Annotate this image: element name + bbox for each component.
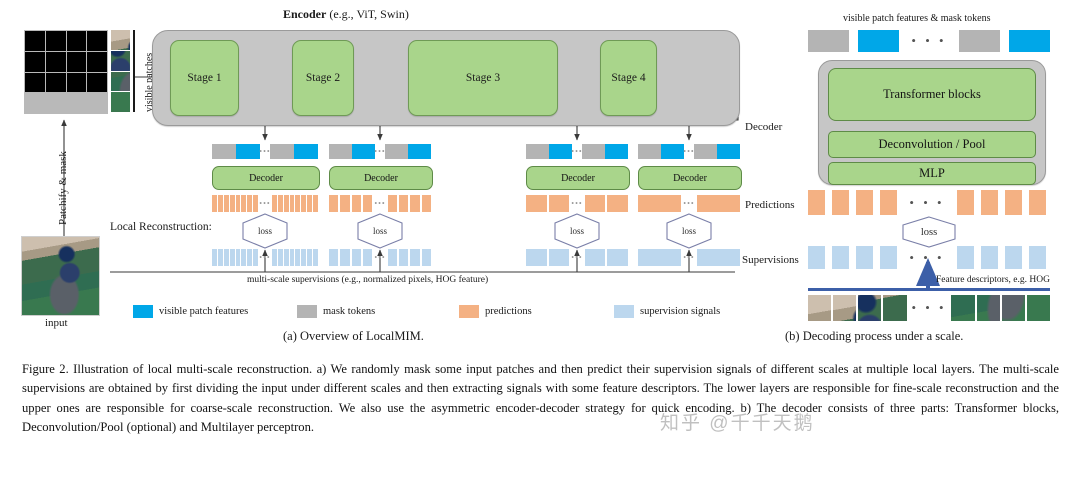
visible-patches-column [111,30,130,112]
encoder-title: Encoder (e.g., ViT, Swin) [283,8,409,20]
source-patch [951,295,974,321]
supervision-bar [697,249,740,266]
mask-cell [87,31,107,51]
stage-3-label: Stage 3 [466,72,500,84]
prediction-bar [284,195,289,212]
stage-4-label: Stage 4 [611,72,645,84]
supervision-strip-2: ••• [329,249,431,266]
prediction-bar [340,195,349,212]
visible-patch-feature [1009,30,1050,52]
ellipsis: ••• [259,195,271,212]
ellipsis: ••• [259,249,271,266]
mask-token [329,144,352,159]
mask-token [526,144,549,159]
visible-patch-feature [408,144,431,159]
legend-label-mask: mask tokens [323,306,375,317]
source-patch [858,295,881,321]
panel-b-supervision-strip: • • • [808,246,1050,269]
legend-supervision-signals: supervision signals [614,305,720,318]
visible-patch [111,92,130,112]
supervision-bar [224,249,229,266]
mask-token [582,144,605,159]
supervision-bar [388,249,397,266]
prediction-bar [212,195,217,212]
panel-b-loss-label: loss [921,227,937,238]
loss-1-label: loss [258,226,272,236]
multiscale-supervisions-note: multi-scale supervisions (e.g., normaliz… [247,276,488,286]
ellipsis: ••• [683,249,695,266]
mask-cell [67,73,87,93]
supervision-bar [340,249,349,266]
visible-patch-feature [605,144,628,159]
supervision-bar [307,249,312,266]
prediction-bar [247,195,252,212]
prediction-bar [856,190,873,215]
mask-cell [67,52,87,72]
legend-predictions: predictions [459,305,532,318]
decoder-1-label: Decoder [249,173,283,184]
supervision-bar [352,249,361,266]
prediction-bar [1029,190,1046,215]
prediction-strip-2: ••• [329,195,431,212]
supervision-strip-4: ••• [638,249,740,266]
patchify-mask-label: Patchify & mask [58,151,69,225]
prediction-bar [1005,190,1022,215]
prediction-bar [832,190,849,215]
encoder-title-bold: Encoder [283,7,326,21]
prediction-bar [638,195,681,212]
token-strip-2: ••• [329,144,431,159]
local-reconstruction-label: Local Reconstruction: [110,222,212,234]
loss-node-2: loss [355,213,405,249]
encoder-title-rest: (e.g., ViT, Swin) [326,7,409,21]
panel-b-supervisions-label: Supervisions [742,255,799,266]
mask-cell [25,73,45,93]
source-patch [1002,295,1025,321]
prediction-bar [808,190,825,215]
ellipsis: ••• [571,249,582,266]
prediction-bar [422,195,431,212]
supervision-bar [301,249,306,266]
prediction-bar [410,195,419,212]
supervision-strip-3: ••• [526,249,628,266]
supervision-bar [832,246,849,269]
supervision-bar [549,249,570,266]
supervision-bar [585,249,606,266]
mask-token [959,30,1000,52]
loss-node-3: loss [552,213,602,249]
prediction-bar [253,195,258,212]
mask-cell [46,73,66,93]
hog-label: Feature descriptors, e.g. HOG [936,276,1050,286]
supervision-bar [410,249,419,266]
prediction-bar [363,195,372,212]
stage-2[interactable]: Stage 2 [292,40,354,116]
mask-cell [46,52,66,72]
supervision-bar [290,249,295,266]
loss-3-label: loss [570,226,584,236]
figure-caption: Figure 2. Illustration of local multi-sc… [22,360,1059,438]
supervision-bar [957,246,974,269]
decoder-1[interactable]: Decoder [212,166,320,190]
mask-token [385,144,408,159]
legend-label-predictions: predictions [485,306,532,317]
ellipsis: ••• [375,144,385,159]
panel-b-predictions-label: Predictions [745,200,795,211]
ellipsis: ••• [571,195,582,212]
supervision-bar [880,246,897,269]
subcaption-b: (b) Decoding process under a scale. [785,330,963,343]
transformer-blocks-box[interactable]: Transformer blocks [828,68,1036,121]
prediction-bar [241,195,246,212]
legend-swatch-mask [297,305,317,318]
figure-caption-text: Illustration of local multi-scale recons… [22,362,1059,434]
panel-b-photo-strip: • • • [808,295,1050,321]
token-strip-1: ••• [212,144,318,159]
supervision-bar [1029,246,1046,269]
ellipsis: • • • [909,295,950,321]
mask-cell [46,31,66,51]
ellipsis: ••• [374,249,385,266]
ellipsis: • • • [899,30,959,52]
transformer-blocks-label: Transformer blocks [883,87,981,102]
legend-label-supervision: supervision signals [640,306,720,317]
supervision-bar [247,249,252,266]
supervision-bar [218,249,223,266]
ellipsis: • • • [904,190,950,215]
prediction-strip-1: ••• [212,195,318,212]
source-patch [883,295,906,321]
supervision-bar [363,249,372,266]
ellipsis: • • • [904,246,950,269]
token-gap [1000,30,1009,52]
mask-token [270,144,294,159]
legend-visible-patch-features: visible patch features [133,305,248,318]
legend-swatch-predictions [459,305,479,318]
mlp-label: MLP [919,166,945,181]
loss-node-4: loss [664,213,714,249]
visible-patch-feature [858,30,899,52]
mask-token [808,30,849,52]
prediction-bar [585,195,606,212]
input-image [21,236,100,316]
legend-mask-tokens: mask tokens [297,305,375,318]
supervision-strip-1: ••• [212,249,318,266]
mask-token [212,144,236,159]
visible-patches-bracket [133,30,135,112]
visible-patch-feature [717,144,740,159]
visible-patch-feature [294,144,318,159]
loss-4-label: loss [682,226,696,236]
source-patch [833,295,856,321]
supervision-bar [253,249,258,266]
visible-patch-feature [549,144,572,159]
loss-2-label: loss [373,226,387,236]
supervision-bar [422,249,431,266]
supervision-bar [607,249,628,266]
figure-canvas: input Patchify & mask visible patches En… [0,0,1080,480]
supervision-bar [1005,246,1022,269]
stage-1[interactable]: Stage 1 [170,40,239,116]
input-label: input [45,318,68,329]
prediction-bar [301,195,306,212]
supervision-bar [278,249,283,266]
hog-baseline [808,288,1050,291]
prediction-bar [526,195,547,212]
visible-patch [111,30,130,50]
stage-4[interactable]: Stage 4 [600,40,657,116]
figure-caption-number: Figure 2. [22,362,69,376]
loss-node-1: loss [240,213,290,249]
mask-token [694,144,717,159]
supervision-bar [313,249,318,266]
ellipsis: ••• [374,195,385,212]
ellipsis: ••• [260,144,270,159]
supervision-bar [236,249,241,266]
visible-patch-feature [661,144,684,159]
supervision-bar [808,246,825,269]
prediction-bar [230,195,235,212]
decoder-2-label: Decoder [364,173,398,184]
prediction-strip-4: ••• [638,195,740,212]
mask-token [638,144,661,159]
mlp-box[interactable]: MLP [828,162,1036,185]
supervision-bar [241,249,246,266]
prediction-bar [388,195,397,212]
prediction-bar [290,195,295,212]
prediction-bar [352,195,361,212]
prediction-bar [957,190,974,215]
panel-b-loss-node: loss [900,216,958,248]
prediction-bar [329,195,338,212]
supervision-bar [295,249,300,266]
ellipsis: ••• [683,195,695,212]
prediction-bar [278,195,283,212]
supervision-bar [638,249,681,266]
mask-cell [25,31,45,51]
decoder-4[interactable]: Decoder [638,166,742,190]
token-strip-3: ••• [526,144,628,159]
decoder-4-label: Decoder [673,173,707,184]
prediction-bar [295,195,300,212]
subcaption-a: (a) Overview of LocalMIM. [283,330,424,343]
stage-2-label: Stage 2 [306,72,340,84]
panel-b-decoder-label: Decoder [745,122,782,133]
deconvolution-pool-label: Deconvolution / Pool [879,137,986,152]
stage-3[interactable]: Stage 3 [408,40,558,116]
legend-label-visible: visible patch features [159,306,248,317]
token-strip-4: ••• [638,144,740,159]
legend-swatch-visible [133,305,153,318]
prediction-bar [981,190,998,215]
mask-cell [25,52,45,72]
supervision-bar [981,246,998,269]
prediction-bar [880,190,897,215]
prediction-bar [697,195,740,212]
supervision-bar [272,249,277,266]
supervision-bar [230,249,235,266]
prediction-bar [224,195,229,212]
supervision-bar [329,249,338,266]
prediction-bar [399,195,408,212]
prediction-bar [549,195,570,212]
mask-cell [87,73,107,93]
supervision-bar [856,246,873,269]
source-patch [977,295,1000,321]
visible-patch-feature [236,144,260,159]
prediction-bar [236,195,241,212]
ellipsis: ••• [572,144,582,159]
visible-patch [111,51,130,71]
decoder-3[interactable]: Decoder [526,166,630,190]
visible-patch-feature [352,144,375,159]
patchify-mask-grid [24,30,108,114]
supervision-bar [212,249,217,266]
prediction-bar [307,195,312,212]
prediction-bar [218,195,223,212]
deconvolution-pool-box[interactable]: Deconvolution / Pool [828,131,1036,158]
mask-cell [87,52,107,72]
ellipsis: ••• [684,144,694,159]
stage-1-label: Stage 1 [187,72,221,84]
prediction-bar [272,195,277,212]
source-patch [1027,295,1050,321]
legend-swatch-supervision [614,305,634,318]
prediction-bar [607,195,628,212]
prediction-strip-3: ••• [526,195,628,212]
decoder-3-label: Decoder [561,173,595,184]
source-patch [808,295,831,321]
supervision-bar [399,249,408,266]
decoder-2[interactable]: Decoder [329,166,433,190]
panel-b-prediction-strip: • • • [808,190,1050,215]
visible-patch [111,72,130,92]
token-gap [849,30,858,52]
supervision-bar [526,249,547,266]
panel-b-token-strip: • • • [808,30,1050,52]
mask-cell [67,31,87,51]
prediction-bar [313,195,318,212]
supervision-bar [284,249,289,266]
panel-b-top-label: visible patch features & mask tokens [843,14,990,24]
